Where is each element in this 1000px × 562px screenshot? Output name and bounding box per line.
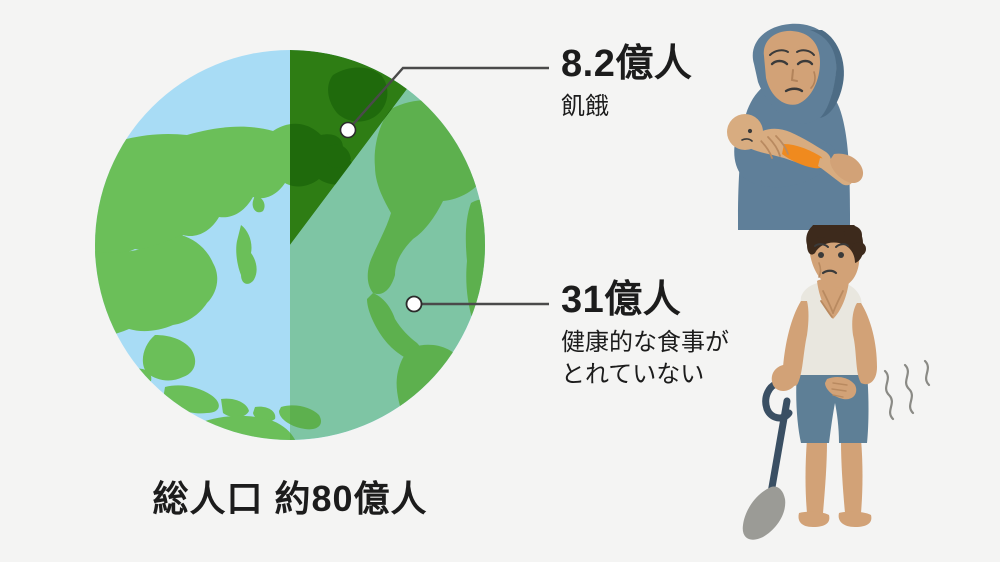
- total-population-caption: 総人口 約80億人: [95, 470, 485, 522]
- globe-svg: [95, 35, 485, 455]
- man-leg-right: [841, 439, 863, 521]
- hunger-wave-lines-icon: [885, 361, 929, 419]
- callout-hunger: 8.2億人 飢餓: [561, 44, 692, 123]
- illustration-man-with-shovel: [735, 225, 935, 545]
- illustration-mother-with-infant: [698, 18, 888, 230]
- callout-hunger-sub: 飢餓: [561, 91, 692, 123]
- infant-head: [727, 114, 763, 150]
- callout-diet: 31億人 健康的な食事が とれていない: [561, 280, 729, 391]
- callout-hunger-headline: 8.2億人: [561, 44, 692, 84]
- globe-pie-chart: [95, 35, 485, 455]
- infant-eye: [748, 129, 752, 133]
- man-eye-right: [838, 252, 844, 258]
- man-eye-left: [818, 252, 824, 258]
- callout-diet-sub-line2: とれていない: [561, 359, 729, 391]
- man-leg-left: [806, 439, 828, 521]
- globe-body: [95, 35, 485, 455]
- man-foot-right: [839, 512, 872, 527]
- mother-with-infant-svg: [698, 18, 888, 230]
- man-foot-left: [799, 512, 830, 527]
- callout-diet-headline: 31億人: [561, 280, 729, 320]
- callout-diet-sub-line1: 健康的な食事が: [561, 327, 729, 359]
- man-with-shovel-svg: [735, 225, 935, 545]
- infographic-canvas: 8.2億人 飢餓 31億人 健康的な食事が とれていない 総人口 約80億人: [0, 0, 1000, 562]
- shovel-blade: [743, 487, 786, 540]
- man-hair-curl-4: [852, 242, 866, 256]
